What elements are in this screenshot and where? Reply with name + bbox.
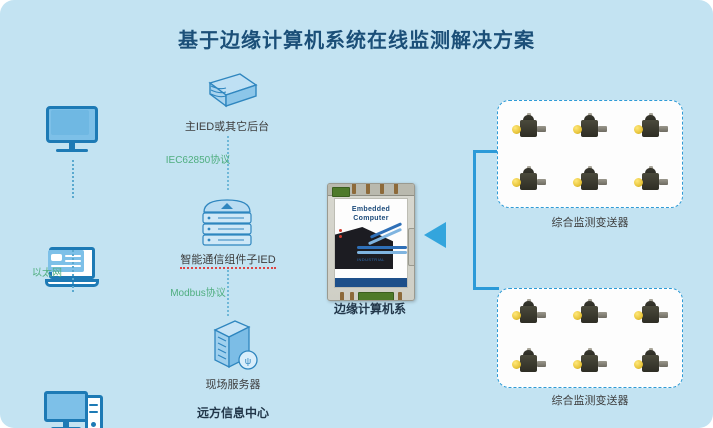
transducer-sensor-icon (573, 113, 607, 143)
transducer-sensor-icon (573, 299, 607, 329)
node-label-sub-ied: 智能通信组件子IED (152, 251, 304, 267)
monitor-icon (46, 106, 100, 153)
monitor-foot (56, 149, 88, 152)
tower-line (89, 411, 98, 413)
svg-text:ψ: ψ (245, 356, 251, 366)
transducer-panel-bottom (497, 288, 683, 388)
transducer-sensor-icon (573, 166, 607, 196)
transducer-sensor-icon (634, 299, 668, 329)
node-label-main-ied: 主IED或其它后台 (160, 118, 294, 134)
device-stripe (357, 246, 407, 249)
section-label-remote-center: 远方信息中心 (163, 404, 303, 421)
monitor-inner-screen (51, 110, 89, 135)
node-label-sub-ied-text: 智能通信组件子IED (180, 254, 275, 269)
tower-server-icon: ψ (207, 318, 257, 370)
protocol-label-iec62850: IEC62850协议 (155, 151, 241, 166)
page-title: 基于边缘计算机系统在线监测解决方案 (0, 24, 713, 53)
transducer-sensor-icon (512, 166, 546, 196)
transducer-sensor-icon (512, 299, 546, 329)
desktop-pc-icon (44, 389, 106, 428)
laptop-screen-block (51, 254, 62, 261)
sensor-grid (498, 101, 682, 207)
device-led-row (339, 229, 342, 241)
transducer-sensor-icon (634, 166, 668, 196)
device-side-connector (408, 228, 415, 266)
device-bottom-bar (335, 278, 407, 287)
device-led (339, 235, 342, 238)
flow-arrow-icon (424, 222, 446, 248)
device-brand: Embedded Computer (335, 205, 407, 223)
device-led (339, 229, 342, 232)
edge-computer-device: Embedded Computer INDUSTRIAL (327, 183, 415, 301)
device-stripe (357, 251, 407, 254)
transducer-sensor-icon (573, 348, 607, 378)
transducer-panel-top (497, 100, 683, 208)
tower-power-dot (91, 422, 96, 427)
device-pin (380, 183, 384, 194)
device-brand-line2: Computer (353, 215, 388, 222)
protocol-label-modbus: Modbus协议 (156, 284, 240, 299)
device-brand-line1: Embedded (352, 206, 390, 213)
panel-label-bottom: 综合监测变送器 (520, 392, 660, 408)
sensor-grid (498, 289, 682, 387)
transducer-sensor-icon (512, 348, 546, 378)
transducer-sensor-icon (634, 348, 668, 378)
diagram-canvas: 基于边缘计算机系统在线监测解决方案 以太网 (0, 0, 713, 428)
panel-label-top: 综合监测变送器 (520, 214, 660, 230)
desktop-screen (44, 391, 88, 422)
device-terminal-block (332, 187, 350, 197)
transducer-sensor-icon (634, 113, 668, 143)
transducer-sensor-icon (512, 113, 546, 143)
bracket-connector (473, 150, 499, 290)
connector-monitor-to-laptop (72, 160, 74, 198)
device-brand-sub: INDUSTRIAL (357, 257, 385, 262)
ethernet-label: 以太网 (24, 264, 70, 279)
edge-computer-label: 边缘计算机系 (305, 300, 435, 317)
device-pin (352, 183, 356, 194)
device-pin (366, 183, 370, 194)
rack-server-icon (198, 196, 256, 240)
connector-laptop-to-desktop (72, 250, 74, 292)
device-pin (394, 183, 398, 194)
tower-line (89, 404, 98, 406)
slab-device-icon (196, 72, 258, 116)
node-label-field-server: 现场服务器 (168, 376, 298, 392)
device-front-face: Embedded Computer INDUSTRIAL (334, 198, 408, 288)
